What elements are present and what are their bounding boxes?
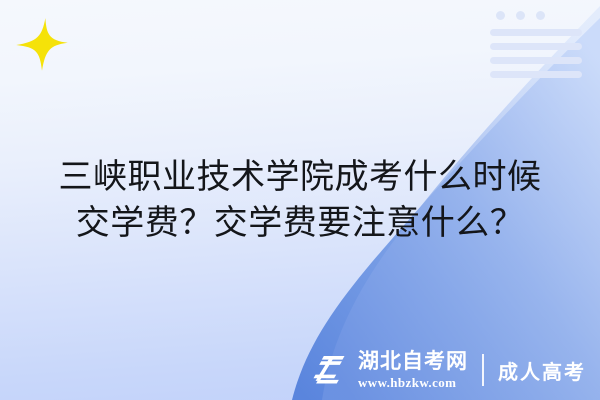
brand-lockup[interactable]: 湖北自考网 www.hbzkw.com 成人高考 (312, 351, 586, 389)
brand-url: www.hbzkw.com (358, 376, 468, 389)
document-lines-icon (490, 11, 582, 65)
doc-dot (516, 11, 525, 20)
brand-text-block: 湖北自考网 www.hbzkw.com (358, 351, 468, 389)
headline-line-1: 三峡职业技术学院成考什么时候 (18, 154, 582, 200)
page-title: 三峡职业技术学院成考什么时候 交学费？交学费要注意什么？ (0, 154, 600, 246)
brand-divider (482, 354, 484, 386)
sparkle-star-icon (14, 17, 70, 73)
doc-bar (490, 43, 582, 50)
doc-bar (490, 71, 582, 78)
brand-tag: 成人高考 (498, 356, 586, 385)
doc-dots-group (496, 11, 582, 20)
headline-line-2: 交学费？交学费要注意什么？ (18, 200, 582, 246)
doc-dot (496, 11, 505, 20)
hbzkw-logo-mark-icon (312, 355, 346, 385)
article-cover-banner: 三峡职业技术学院成考什么时候 交学费？交学费要注意什么？ 湖北自考网 www.h… (0, 0, 600, 400)
doc-bar (490, 57, 582, 64)
doc-bar (490, 29, 582, 36)
doc-dot (536, 11, 545, 20)
brand-name: 湖北自考网 (358, 351, 468, 372)
